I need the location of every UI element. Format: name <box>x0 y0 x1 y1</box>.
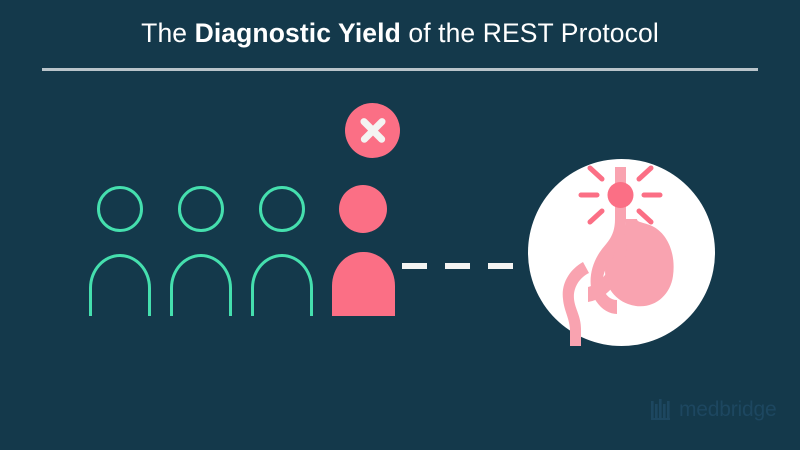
x-mark-icon <box>345 103 400 158</box>
person-head-icon <box>259 186 305 232</box>
connector-dash <box>488 263 513 269</box>
person-head-icon <box>97 186 143 232</box>
person-icon-3 <box>251 186 313 316</box>
stomach-illustration-circle <box>528 159 715 346</box>
person-icon-1 <box>89 186 151 316</box>
page-title-suffix: of the REST Protocol <box>401 18 659 48</box>
page-title-emphasis: Diagnostic Yield <box>195 18 401 48</box>
person-icon-2 <box>170 186 232 316</box>
title-divider <box>42 68 758 71</box>
person-body-icon <box>251 254 313 316</box>
person-body-icon <box>89 254 151 316</box>
bridge-icon <box>651 399 672 420</box>
medbridge-logo: medbridge <box>651 399 776 420</box>
dashed-connector <box>402 263 513 269</box>
slide-canvas: The Diagnostic Yield of the REST Protoco… <box>0 0 800 450</box>
medbridge-wordmark: medbridge <box>679 399 776 420</box>
person-head-icon <box>339 185 387 233</box>
connector-dash <box>402 263 427 269</box>
title-block: The Diagnostic Yield of the REST Protoco… <box>0 16 800 50</box>
person-head-icon <box>178 186 224 232</box>
person-body-icon <box>170 254 232 316</box>
person-body-icon <box>332 252 395 316</box>
page-title: The Diagnostic Yield of the REST Protoco… <box>0 16 800 50</box>
stomach-icon <box>528 159 715 346</box>
connector-dash <box>445 263 470 269</box>
page-title-prefix: The <box>141 18 194 48</box>
person-icon-4-highlighted <box>332 186 395 316</box>
